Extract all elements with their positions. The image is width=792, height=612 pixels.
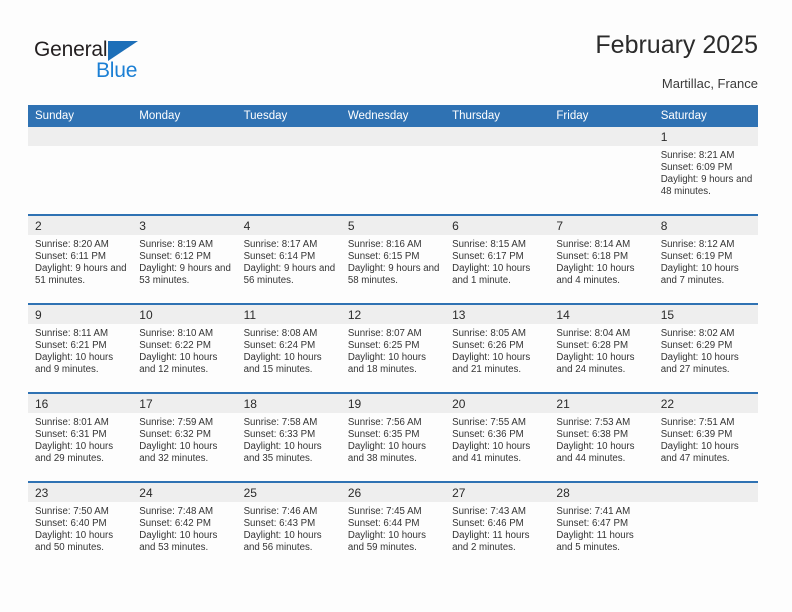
calendar-day-cell[interactable]: 22Sunrise: 7:51 AMSunset: 6:39 PMDayligh… xyxy=(654,393,758,482)
sunset-text: Sunset: 6:12 PM xyxy=(139,251,231,263)
calendar-day-cell[interactable]: 9Sunrise: 8:11 AMSunset: 6:21 PMDaylight… xyxy=(28,304,132,393)
day-number: 27 xyxy=(445,483,549,502)
day-number: 19 xyxy=(341,394,445,413)
sunrise-text: Sunrise: 7:50 AM xyxy=(35,506,127,518)
day-cell-content: 4Sunrise: 8:17 AMSunset: 6:14 PMDaylight… xyxy=(237,216,341,303)
calendar-week-row: 9Sunrise: 8:11 AMSunset: 6:21 PMDaylight… xyxy=(28,304,758,393)
sunrise-text: Sunrise: 7:56 AM xyxy=(348,417,440,429)
day-cell-content: 3Sunrise: 8:19 AMSunset: 6:12 PMDaylight… xyxy=(132,216,236,303)
day-cell-content: 14Sunrise: 8:04 AMSunset: 6:28 PMDayligh… xyxy=(549,305,653,392)
day-number: 24 xyxy=(132,483,236,502)
day-sun-info: Sunrise: 7:48 AMSunset: 6:42 PMDaylight:… xyxy=(132,502,236,554)
daylight-text: Daylight: 10 hours and 7 minutes. xyxy=(661,263,753,287)
calendar-day-cell[interactable]: 13Sunrise: 8:05 AMSunset: 6:26 PMDayligh… xyxy=(445,304,549,393)
sunrise-text: Sunrise: 8:02 AM xyxy=(661,328,753,340)
daylight-text: Daylight: 10 hours and 24 minutes. xyxy=(556,352,648,376)
sunset-text: Sunset: 6:38 PM xyxy=(556,429,648,441)
calendar-week-row: 2Sunrise: 8:20 AMSunset: 6:11 PMDaylight… xyxy=(28,215,758,304)
sunset-text: Sunset: 6:42 PM xyxy=(139,518,231,530)
sunrise-text: Sunrise: 8:10 AM xyxy=(139,328,231,340)
day-cell-content: 26Sunrise: 7:45 AMSunset: 6:44 PMDayligh… xyxy=(341,483,445,570)
calendar-day-cell[interactable]: 23Sunrise: 7:50 AMSunset: 6:40 PMDayligh… xyxy=(28,482,132,570)
day-cell-content: 21Sunrise: 7:53 AMSunset: 6:38 PMDayligh… xyxy=(549,394,653,481)
sunrise-text: Sunrise: 8:17 AM xyxy=(244,239,336,251)
sunset-text: Sunset: 6:21 PM xyxy=(35,340,127,352)
daylight-text: Daylight: 11 hours and 5 minutes. xyxy=(556,530,648,554)
calendar-day-cell-empty xyxy=(341,127,445,215)
calendar-day-cell[interactable]: 8Sunrise: 8:12 AMSunset: 6:19 PMDaylight… xyxy=(654,215,758,304)
page-subtitle-location: Martillac, France xyxy=(662,76,758,92)
day-sun-info: Sunrise: 8:15 AMSunset: 6:17 PMDaylight:… xyxy=(445,235,549,287)
day-cell-content: 15Sunrise: 8:02 AMSunset: 6:29 PMDayligh… xyxy=(654,305,758,392)
day-cell-content: 7Sunrise: 8:14 AMSunset: 6:18 PMDaylight… xyxy=(549,216,653,303)
day-number: 14 xyxy=(549,305,653,324)
day-cell-content xyxy=(654,483,758,570)
calendar-body: 1Sunrise: 8:21 AMSunset: 6:09 PMDaylight… xyxy=(28,127,758,570)
day-number: 10 xyxy=(132,305,236,324)
day-cell-content xyxy=(341,127,445,214)
day-sun-info: Sunrise: 8:01 AMSunset: 6:31 PMDaylight:… xyxy=(28,413,132,465)
day-sun-info: Sunrise: 7:59 AMSunset: 6:32 PMDaylight:… xyxy=(132,413,236,465)
sunset-text: Sunset: 6:46 PM xyxy=(452,518,544,530)
day-number: 22 xyxy=(654,394,758,413)
sunrise-text: Sunrise: 8:11 AM xyxy=(35,328,127,340)
calendar-table: Sunday Monday Tuesday Wednesday Thursday… xyxy=(28,105,758,570)
day-sun-info: Sunrise: 7:58 AMSunset: 6:33 PMDaylight:… xyxy=(237,413,341,465)
day-number xyxy=(237,127,341,146)
calendar-day-cell[interactable]: 19Sunrise: 7:56 AMSunset: 6:35 PMDayligh… xyxy=(341,393,445,482)
day-cell-content: 24Sunrise: 7:48 AMSunset: 6:42 PMDayligh… xyxy=(132,483,236,570)
day-cell-content: 20Sunrise: 7:55 AMSunset: 6:36 PMDayligh… xyxy=(445,394,549,481)
sunrise-text: Sunrise: 7:51 AM xyxy=(661,417,753,429)
day-number: 6 xyxy=(445,216,549,235)
day-number: 4 xyxy=(237,216,341,235)
day-cell-content xyxy=(549,127,653,214)
daylight-text: Daylight: 9 hours and 48 minutes. xyxy=(661,174,753,198)
sunrise-text: Sunrise: 8:08 AM xyxy=(244,328,336,340)
day-sun-info: Sunrise: 8:04 AMSunset: 6:28 PMDaylight:… xyxy=(549,324,653,376)
calendar-day-cell[interactable]: 16Sunrise: 8:01 AMSunset: 6:31 PMDayligh… xyxy=(28,393,132,482)
day-sun-info: Sunrise: 7:50 AMSunset: 6:40 PMDaylight:… xyxy=(28,502,132,554)
calendar-day-cell[interactable]: 14Sunrise: 8:04 AMSunset: 6:28 PMDayligh… xyxy=(549,304,653,393)
day-number: 8 xyxy=(654,216,758,235)
sunrise-text: Sunrise: 8:01 AM xyxy=(35,417,127,429)
daylight-text: Daylight: 10 hours and 44 minutes. xyxy=(556,441,648,465)
sunset-text: Sunset: 6:44 PM xyxy=(348,518,440,530)
logo-triangle-icon xyxy=(108,41,138,61)
daylight-text: Daylight: 10 hours and 41 minutes. xyxy=(452,441,544,465)
sunrise-text: Sunrise: 8:05 AM xyxy=(452,328,544,340)
daylight-text: Daylight: 10 hours and 9 minutes. xyxy=(35,352,127,376)
logo-text-blue: Blue xyxy=(96,59,137,83)
weekday-header-wednesday: Wednesday xyxy=(341,105,445,127)
calendar-page: General Blue February 2025 Martillac, Fr… xyxy=(0,0,792,612)
day-sun-info: Sunrise: 8:17 AMSunset: 6:14 PMDaylight:… xyxy=(237,235,341,287)
day-number: 26 xyxy=(341,483,445,502)
day-cell-content: 18Sunrise: 7:58 AMSunset: 6:33 PMDayligh… xyxy=(237,394,341,481)
day-number: 11 xyxy=(237,305,341,324)
sunset-text: Sunset: 6:17 PM xyxy=(452,251,544,263)
day-cell-content: 13Sunrise: 8:05 AMSunset: 6:26 PMDayligh… xyxy=(445,305,549,392)
day-cell-content xyxy=(237,127,341,214)
day-cell-content: 23Sunrise: 7:50 AMSunset: 6:40 PMDayligh… xyxy=(28,483,132,570)
calendar-day-cell[interactable]: 12Sunrise: 8:07 AMSunset: 6:25 PMDayligh… xyxy=(341,304,445,393)
day-cell-content: 17Sunrise: 7:59 AMSunset: 6:32 PMDayligh… xyxy=(132,394,236,481)
day-cell-content: 19Sunrise: 7:56 AMSunset: 6:35 PMDayligh… xyxy=(341,394,445,481)
sunset-text: Sunset: 6:40 PM xyxy=(35,518,127,530)
daylight-text: Daylight: 10 hours and 21 minutes. xyxy=(452,352,544,376)
day-sun-info: Sunrise: 7:43 AMSunset: 6:46 PMDaylight:… xyxy=(445,502,549,554)
day-number: 13 xyxy=(445,305,549,324)
calendar-day-cell-empty xyxy=(654,482,758,570)
day-sun-info: Sunrise: 8:11 AMSunset: 6:21 PMDaylight:… xyxy=(28,324,132,376)
calendar-week-row: 16Sunrise: 8:01 AMSunset: 6:31 PMDayligh… xyxy=(28,393,758,482)
calendar-day-cell[interactable]: 26Sunrise: 7:45 AMSunset: 6:44 PMDayligh… xyxy=(341,482,445,570)
daylight-text: Daylight: 11 hours and 2 minutes. xyxy=(452,530,544,554)
sunset-text: Sunset: 6:36 PM xyxy=(452,429,544,441)
day-sun-info: Sunrise: 8:07 AMSunset: 6:25 PMDaylight:… xyxy=(341,324,445,376)
day-sun-info: Sunrise: 8:10 AMSunset: 6:22 PMDaylight:… xyxy=(132,324,236,376)
day-cell-content: 11Sunrise: 8:08 AMSunset: 6:24 PMDayligh… xyxy=(237,305,341,392)
calendar-day-cell-empty xyxy=(28,127,132,215)
day-cell-content: 28Sunrise: 7:41 AMSunset: 6:47 PMDayligh… xyxy=(549,483,653,570)
day-cell-content xyxy=(445,127,549,214)
sunset-text: Sunset: 6:25 PM xyxy=(348,340,440,352)
day-number: 3 xyxy=(132,216,236,235)
calendar-day-cell[interactable]: 7Sunrise: 8:14 AMSunset: 6:18 PMDaylight… xyxy=(549,215,653,304)
day-number: 15 xyxy=(654,305,758,324)
day-number: 12 xyxy=(341,305,445,324)
daylight-text: Daylight: 10 hours and 15 minutes. xyxy=(244,352,336,376)
daylight-text: Daylight: 10 hours and 56 minutes. xyxy=(244,530,336,554)
day-cell-content: 16Sunrise: 8:01 AMSunset: 6:31 PMDayligh… xyxy=(28,394,132,481)
daylight-text: Daylight: 10 hours and 12 minutes. xyxy=(139,352,231,376)
daylight-text: Daylight: 10 hours and 27 minutes. xyxy=(661,352,753,376)
sunset-text: Sunset: 6:22 PM xyxy=(139,340,231,352)
day-number: 5 xyxy=(341,216,445,235)
day-sun-info: Sunrise: 8:16 AMSunset: 6:15 PMDaylight:… xyxy=(341,235,445,287)
day-sun-info: Sunrise: 7:53 AMSunset: 6:38 PMDaylight:… xyxy=(549,413,653,465)
day-cell-content: 10Sunrise: 8:10 AMSunset: 6:22 PMDayligh… xyxy=(132,305,236,392)
sunset-text: Sunset: 6:19 PM xyxy=(661,251,753,263)
day-cell-content: 27Sunrise: 7:43 AMSunset: 6:46 PMDayligh… xyxy=(445,483,549,570)
sunrise-text: Sunrise: 7:48 AM xyxy=(139,506,231,518)
day-number: 23 xyxy=(28,483,132,502)
calendar-day-cell[interactable]: 15Sunrise: 8:02 AMSunset: 6:29 PMDayligh… xyxy=(654,304,758,393)
calendar-day-cell[interactable]: 5Sunrise: 8:16 AMSunset: 6:15 PMDaylight… xyxy=(341,215,445,304)
day-sun-info: Sunrise: 8:20 AMSunset: 6:11 PMDaylight:… xyxy=(28,235,132,287)
sunrise-text: Sunrise: 7:46 AM xyxy=(244,506,336,518)
sunset-text: Sunset: 6:24 PM xyxy=(244,340,336,352)
day-sun-info: Sunrise: 8:19 AMSunset: 6:12 PMDaylight:… xyxy=(132,235,236,287)
weekday-header-monday: Monday xyxy=(132,105,236,127)
day-sun-info: Sunrise: 8:05 AMSunset: 6:26 PMDaylight:… xyxy=(445,324,549,376)
day-cell-content: 2Sunrise: 8:20 AMSunset: 6:11 PMDaylight… xyxy=(28,216,132,303)
sunrise-text: Sunrise: 7:59 AM xyxy=(139,417,231,429)
daylight-text: Daylight: 9 hours and 51 minutes. xyxy=(35,263,127,287)
daylight-text: Daylight: 10 hours and 18 minutes. xyxy=(348,352,440,376)
day-number: 9 xyxy=(28,305,132,324)
daylight-text: Daylight: 10 hours and 59 minutes. xyxy=(348,530,440,554)
sunset-text: Sunset: 6:18 PM xyxy=(556,251,648,263)
day-number: 28 xyxy=(549,483,653,502)
day-cell-content: 12Sunrise: 8:07 AMSunset: 6:25 PMDayligh… xyxy=(341,305,445,392)
calendar-day-cell[interactable]: 24Sunrise: 7:48 AMSunset: 6:42 PMDayligh… xyxy=(132,482,236,570)
day-sun-info: Sunrise: 8:14 AMSunset: 6:18 PMDaylight:… xyxy=(549,235,653,287)
day-cell-content: 9Sunrise: 8:11 AMSunset: 6:21 PMDaylight… xyxy=(28,305,132,392)
day-sun-info: Sunrise: 7:56 AMSunset: 6:35 PMDaylight:… xyxy=(341,413,445,465)
sunset-text: Sunset: 6:43 PM xyxy=(244,518,336,530)
day-number: 7 xyxy=(549,216,653,235)
day-cell-content: 1Sunrise: 8:21 AMSunset: 6:09 PMDaylight… xyxy=(654,127,758,214)
sunrise-text: Sunrise: 8:04 AM xyxy=(556,328,648,340)
daylight-text: Daylight: 9 hours and 58 minutes. xyxy=(348,263,440,287)
calendar-day-cell[interactable]: 10Sunrise: 8:10 AMSunset: 6:22 PMDayligh… xyxy=(132,304,236,393)
calendar-day-cell-empty xyxy=(549,127,653,215)
sunset-text: Sunset: 6:39 PM xyxy=(661,429,753,441)
sunrise-text: Sunrise: 7:41 AM xyxy=(556,506,648,518)
sunset-text: Sunset: 6:26 PM xyxy=(452,340,544,352)
daylight-text: Daylight: 10 hours and 53 minutes. xyxy=(139,530,231,554)
calendar-week-row: 23Sunrise: 7:50 AMSunset: 6:40 PMDayligh… xyxy=(28,482,758,570)
sunrise-text: Sunrise: 8:16 AM xyxy=(348,239,440,251)
calendar-day-cell[interactable]: 11Sunrise: 8:08 AMSunset: 6:24 PMDayligh… xyxy=(237,304,341,393)
sunrise-text: Sunrise: 8:12 AM xyxy=(661,239,753,251)
weekday-header-tuesday: Tuesday xyxy=(237,105,341,127)
day-sun-info: Sunrise: 7:46 AMSunset: 6:43 PMDaylight:… xyxy=(237,502,341,554)
day-number: 21 xyxy=(549,394,653,413)
sunset-text: Sunset: 6:35 PM xyxy=(348,429,440,441)
sunrise-text: Sunrise: 8:15 AM xyxy=(452,239,544,251)
weekday-header-friday: Friday xyxy=(549,105,653,127)
calendar-day-cell-empty xyxy=(132,127,236,215)
day-sun-info: Sunrise: 8:21 AMSunset: 6:09 PMDaylight:… xyxy=(654,146,758,198)
sunset-text: Sunset: 6:29 PM xyxy=(661,340,753,352)
day-number xyxy=(654,483,758,502)
day-cell-content xyxy=(28,127,132,214)
day-sun-info: Sunrise: 8:12 AMSunset: 6:19 PMDaylight:… xyxy=(654,235,758,287)
page-header: General Blue February 2025 Martillac, Fr… xyxy=(28,30,758,96)
weekday-header-sunday: Sunday xyxy=(28,105,132,127)
generalblue-logo[interactable]: General Blue xyxy=(34,38,184,88)
day-sun-info: Sunrise: 8:08 AMSunset: 6:24 PMDaylight:… xyxy=(237,324,341,376)
sunrise-text: Sunrise: 7:55 AM xyxy=(452,417,544,429)
calendar-day-cell[interactable]: 4Sunrise: 8:17 AMSunset: 6:14 PMDaylight… xyxy=(237,215,341,304)
day-number: 20 xyxy=(445,394,549,413)
daylight-text: Daylight: 10 hours and 50 minutes. xyxy=(35,530,127,554)
day-number: 18 xyxy=(237,394,341,413)
day-number: 2 xyxy=(28,216,132,235)
sunset-text: Sunset: 6:47 PM xyxy=(556,518,648,530)
daylight-text: Daylight: 10 hours and 38 minutes. xyxy=(348,441,440,465)
calendar-day-cell-empty xyxy=(445,127,549,215)
day-cell-content: 5Sunrise: 8:16 AMSunset: 6:15 PMDaylight… xyxy=(341,216,445,303)
day-number xyxy=(549,127,653,146)
sunset-text: Sunset: 6:15 PM xyxy=(348,251,440,263)
calendar-day-cell[interactable]: 6Sunrise: 8:15 AMSunset: 6:17 PMDaylight… xyxy=(445,215,549,304)
page-title: February 2025 xyxy=(595,30,758,60)
day-number xyxy=(132,127,236,146)
sunset-text: Sunset: 6:28 PM xyxy=(556,340,648,352)
daylight-text: Daylight: 10 hours and 35 minutes. xyxy=(244,441,336,465)
day-sun-info: Sunrise: 7:45 AMSunset: 6:44 PMDaylight:… xyxy=(341,502,445,554)
day-number xyxy=(28,127,132,146)
weekday-header-row: Sunday Monday Tuesday Wednesday Thursday… xyxy=(28,105,758,127)
day-number xyxy=(445,127,549,146)
day-number: 25 xyxy=(237,483,341,502)
weekday-header-saturday: Saturday xyxy=(654,105,758,127)
day-cell-content xyxy=(132,127,236,214)
daylight-text: Daylight: 10 hours and 1 minute. xyxy=(452,263,544,287)
sunset-text: Sunset: 6:31 PM xyxy=(35,429,127,441)
day-sun-info: Sunrise: 8:02 AMSunset: 6:29 PMDaylight:… xyxy=(654,324,758,376)
calendar-day-cell[interactable]: 25Sunrise: 7:46 AMSunset: 6:43 PMDayligh… xyxy=(237,482,341,570)
calendar-day-cell[interactable]: 3Sunrise: 8:19 AMSunset: 6:12 PMDaylight… xyxy=(132,215,236,304)
sunset-text: Sunset: 6:32 PM xyxy=(139,429,231,441)
sunset-text: Sunset: 6:11 PM xyxy=(35,251,127,263)
daylight-text: Daylight: 10 hours and 32 minutes. xyxy=(139,441,231,465)
calendar-week-row: 1Sunrise: 8:21 AMSunset: 6:09 PMDaylight… xyxy=(28,127,758,215)
sunrise-text: Sunrise: 7:43 AM xyxy=(452,506,544,518)
sunrise-text: Sunrise: 8:07 AM xyxy=(348,328,440,340)
calendar-day-cell-empty xyxy=(237,127,341,215)
daylight-text: Daylight: 9 hours and 56 minutes. xyxy=(244,263,336,287)
daylight-text: Daylight: 10 hours and 29 minutes. xyxy=(35,441,127,465)
day-sun-info: Sunrise: 7:41 AMSunset: 6:47 PMDaylight:… xyxy=(549,502,653,554)
day-number: 16 xyxy=(28,394,132,413)
weekday-header-thursday: Thursday xyxy=(445,105,549,127)
day-cell-content: 8Sunrise: 8:12 AMSunset: 6:19 PMDaylight… xyxy=(654,216,758,303)
sunrise-text: Sunrise: 8:19 AM xyxy=(139,239,231,251)
calendar-day-cell[interactable]: 27Sunrise: 7:43 AMSunset: 6:46 PMDayligh… xyxy=(445,482,549,570)
sunrise-text: Sunrise: 8:14 AM xyxy=(556,239,648,251)
day-number xyxy=(341,127,445,146)
daylight-text: Daylight: 9 hours and 53 minutes. xyxy=(139,263,231,287)
sunrise-text: Sunrise: 7:53 AM xyxy=(556,417,648,429)
day-sun-info: Sunrise: 7:51 AMSunset: 6:39 PMDaylight:… xyxy=(654,413,758,465)
calendar-day-cell[interactable]: 2Sunrise: 8:20 AMSunset: 6:11 PMDaylight… xyxy=(28,215,132,304)
sunset-text: Sunset: 6:33 PM xyxy=(244,429,336,441)
day-sun-info: Sunrise: 7:55 AMSunset: 6:36 PMDaylight:… xyxy=(445,413,549,465)
calendar-day-cell[interactable]: 28Sunrise: 7:41 AMSunset: 6:47 PMDayligh… xyxy=(549,482,653,570)
calendar-day-cell[interactable]: 20Sunrise: 7:55 AMSunset: 6:36 PMDayligh… xyxy=(445,393,549,482)
day-number: 17 xyxy=(132,394,236,413)
calendar-day-cell[interactable]: 1Sunrise: 8:21 AMSunset: 6:09 PMDaylight… xyxy=(654,127,758,215)
sunrise-text: Sunrise: 8:21 AM xyxy=(661,150,753,162)
day-cell-content: 25Sunrise: 7:46 AMSunset: 6:43 PMDayligh… xyxy=(237,483,341,570)
sunrise-text: Sunrise: 7:58 AM xyxy=(244,417,336,429)
daylight-text: Daylight: 10 hours and 47 minutes. xyxy=(661,441,753,465)
calendar-day-cell[interactable]: 17Sunrise: 7:59 AMSunset: 6:32 PMDayligh… xyxy=(132,393,236,482)
sunset-text: Sunset: 6:14 PM xyxy=(244,251,336,263)
calendar-day-cell[interactable]: 18Sunrise: 7:58 AMSunset: 6:33 PMDayligh… xyxy=(237,393,341,482)
calendar-day-cell[interactable]: 21Sunrise: 7:53 AMSunset: 6:38 PMDayligh… xyxy=(549,393,653,482)
day-number: 1 xyxy=(654,127,758,146)
sunset-text: Sunset: 6:09 PM xyxy=(661,162,753,174)
day-cell-content: 6Sunrise: 8:15 AMSunset: 6:17 PMDaylight… xyxy=(445,216,549,303)
sunrise-text: Sunrise: 8:20 AM xyxy=(35,239,127,251)
daylight-text: Daylight: 10 hours and 4 minutes. xyxy=(556,263,648,287)
sunrise-text: Sunrise: 7:45 AM xyxy=(348,506,440,518)
day-cell-content: 22Sunrise: 7:51 AMSunset: 6:39 PMDayligh… xyxy=(654,394,758,481)
